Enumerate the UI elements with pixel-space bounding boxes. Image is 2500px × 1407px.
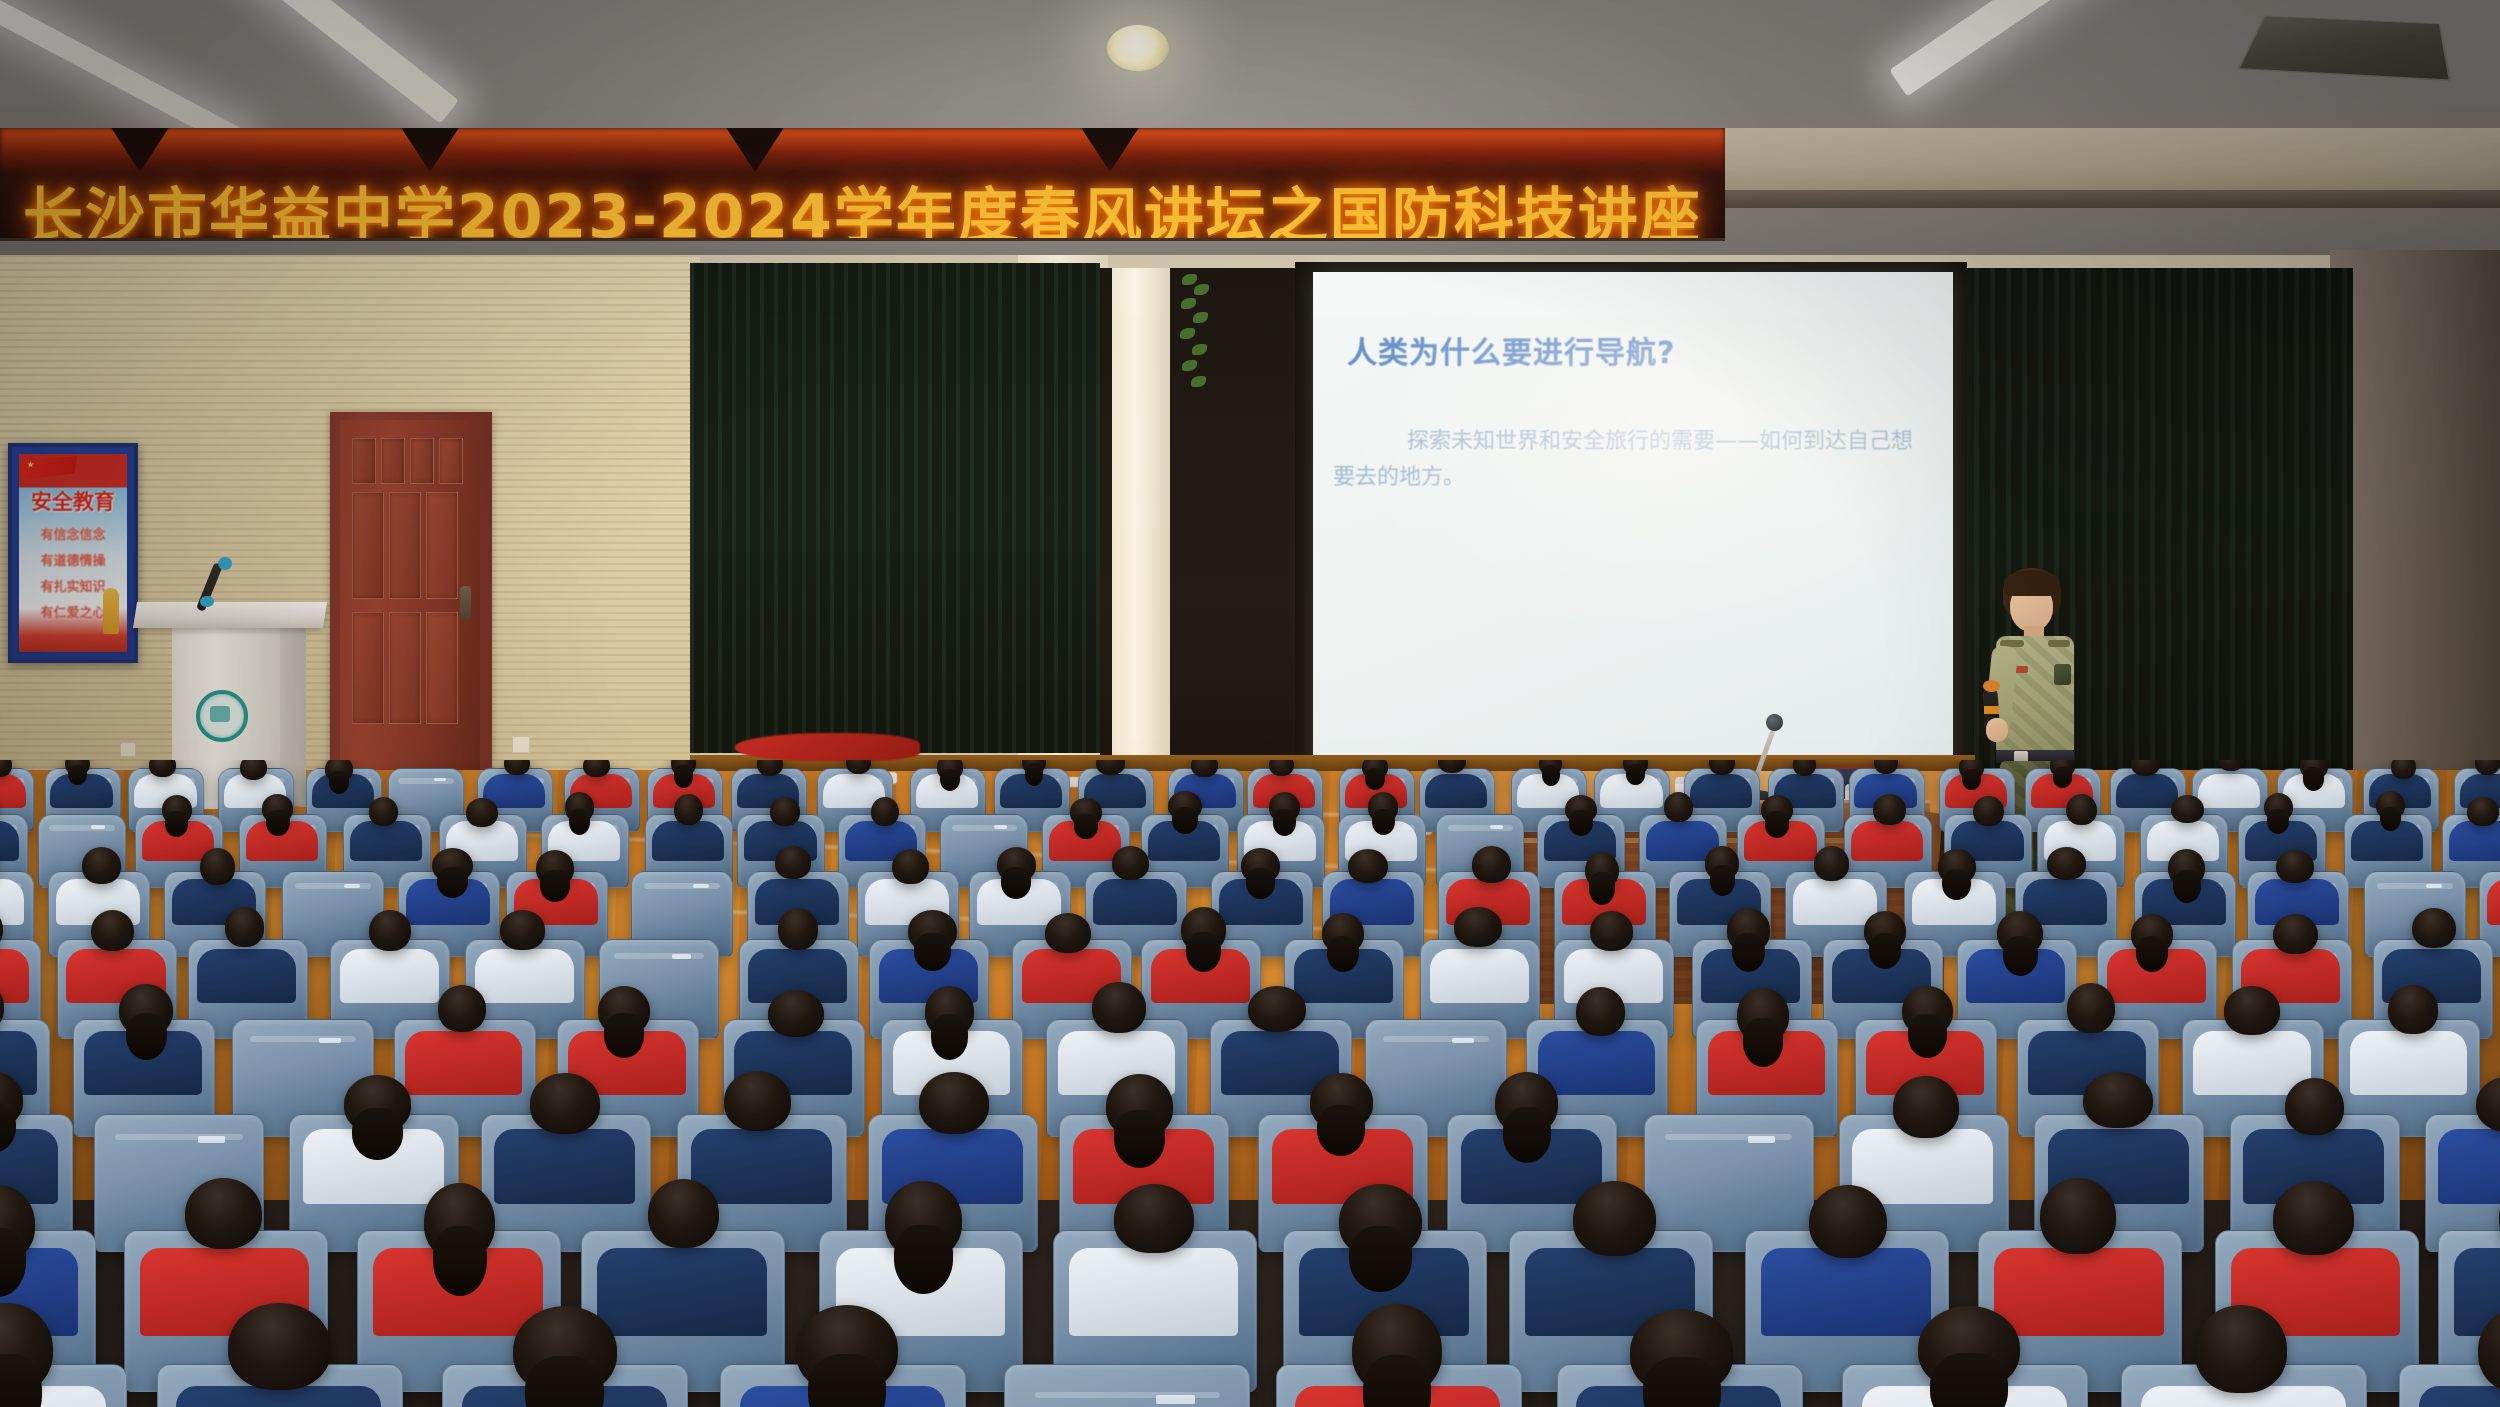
door-panel xyxy=(389,492,421,599)
student-head xyxy=(1938,849,1976,884)
student-head xyxy=(2412,908,2456,948)
door-panel xyxy=(352,612,384,724)
student-uniform xyxy=(1994,1248,2164,1336)
student-head xyxy=(1045,913,1091,953)
ceiling-cone-4 xyxy=(1080,128,1140,172)
student-uniform xyxy=(405,1031,523,1095)
student-head xyxy=(925,986,974,1037)
lectern-top-surface xyxy=(133,602,327,628)
seat-number-tag xyxy=(1452,1038,1474,1044)
student-head xyxy=(536,850,575,886)
student-head xyxy=(768,990,824,1038)
student-head xyxy=(1339,1184,1422,1258)
student-uniform xyxy=(475,949,574,1003)
microphone-base-icon xyxy=(200,596,214,607)
student-head xyxy=(908,910,956,952)
student-head xyxy=(2285,1078,2344,1135)
student-head xyxy=(919,1072,988,1134)
student-head xyxy=(674,794,703,825)
presenter-hand xyxy=(1986,718,2008,742)
event-banner-text: 长沙市华益中学2023-2024学年度春风讲坛之国防科技讲座 xyxy=(0,168,1725,241)
student-head xyxy=(1472,846,1511,882)
stage-pillar xyxy=(1112,268,1170,768)
student-head xyxy=(846,760,871,774)
student-head xyxy=(200,848,235,885)
student-head xyxy=(1959,760,1984,779)
student-head xyxy=(671,760,696,776)
stage-curtain-left xyxy=(690,263,1100,753)
student-head xyxy=(2040,1178,2115,1254)
student-head xyxy=(65,760,90,775)
seat-number-tag xyxy=(344,884,360,888)
student-head xyxy=(1454,907,1501,947)
flag-icon xyxy=(21,456,77,480)
student-head xyxy=(1814,846,1849,881)
door-panel xyxy=(426,612,458,724)
student-head xyxy=(262,794,293,823)
student-head xyxy=(424,1183,495,1260)
student-head xyxy=(466,798,498,827)
student-head xyxy=(2224,986,2280,1035)
ceiling-spotlight-icon xyxy=(1107,25,1169,71)
student-uniform xyxy=(1852,1129,1993,1204)
student-head xyxy=(513,1306,617,1395)
student-head xyxy=(1705,846,1739,880)
student-uniform xyxy=(1069,1248,1239,1336)
led-banner-panel: 长沙市华益中学2023-2024学年度春风讲坛之国防科技讲座 xyxy=(0,128,1725,241)
wall-outlet xyxy=(512,736,530,753)
student-head xyxy=(1181,907,1227,952)
student-head xyxy=(1630,1309,1733,1394)
poster-line-2: 有道德情操 xyxy=(19,550,127,569)
seat-number-tag xyxy=(434,778,446,781)
student-head xyxy=(1585,852,1619,889)
student-head xyxy=(2067,983,2115,1033)
wall-outlet xyxy=(120,742,136,757)
audience-area xyxy=(0,760,2500,1407)
student-head xyxy=(1070,798,1102,826)
student-head xyxy=(1106,1074,1173,1138)
student-head xyxy=(2264,793,2293,821)
student-head xyxy=(1664,792,1693,822)
student-head xyxy=(778,908,818,950)
wall-panel-far-right xyxy=(2330,250,2500,830)
student-uniform xyxy=(652,821,724,861)
student-head xyxy=(1864,911,1907,951)
seat-number-tag xyxy=(994,825,1008,829)
student-head xyxy=(500,910,546,949)
student-head xyxy=(1997,911,2043,956)
ceiling-cone-2 xyxy=(400,128,460,172)
student-uniform xyxy=(494,1129,635,1204)
student-head xyxy=(997,847,1037,883)
student-head xyxy=(2171,795,2204,824)
student-head xyxy=(91,910,134,952)
student-head xyxy=(228,1303,330,1389)
soffit-right xyxy=(1725,128,2500,190)
rank-epaulette-icon xyxy=(2048,640,2070,647)
seat-number-tag xyxy=(319,1038,341,1044)
student-head xyxy=(775,846,811,879)
student-uniform xyxy=(1538,1031,1656,1095)
student-head xyxy=(1902,986,1953,1035)
student-head xyxy=(2300,760,2328,779)
student-head xyxy=(2047,847,2086,879)
student-uniform xyxy=(2198,774,2260,808)
student-head xyxy=(185,1178,262,1249)
student-head xyxy=(1727,908,1770,951)
student-head xyxy=(2050,760,2076,777)
seat-number-tag xyxy=(2426,884,2442,888)
student-head xyxy=(1623,760,1648,775)
student-uniform xyxy=(1425,774,1487,808)
student-head xyxy=(1362,760,1388,779)
student-uniform xyxy=(1093,879,1177,925)
student-head xyxy=(1191,760,1218,777)
student-head xyxy=(2388,985,2437,1034)
student-uniform xyxy=(2116,774,2178,808)
student-head xyxy=(1112,846,1149,880)
student-head xyxy=(1322,913,1363,953)
student-head xyxy=(149,760,176,777)
student-uniform xyxy=(2449,821,2500,861)
student-head xyxy=(369,797,398,826)
student-head xyxy=(225,907,265,947)
ceiling-air-vent-right xyxy=(2237,16,2451,81)
wall-poster: 安全教育 有信念信念 有道德情操 有扎实知识 有仁爱之心 xyxy=(8,443,138,663)
student-head xyxy=(1022,760,1046,774)
student-uniform xyxy=(2350,1031,2468,1095)
screen-glare xyxy=(1313,272,1953,800)
unit-patch-icon xyxy=(2054,664,2071,685)
student-uniform xyxy=(1430,949,1529,1003)
student-head xyxy=(724,1071,791,1131)
door-panel xyxy=(439,438,463,484)
student-uniform xyxy=(1690,774,1752,808)
soffit-underside xyxy=(1725,190,2500,208)
student-head xyxy=(770,797,800,825)
student-head xyxy=(162,795,192,824)
student-uniform xyxy=(1851,821,1923,861)
student-head xyxy=(892,849,929,884)
student-head xyxy=(369,910,411,951)
student-head xyxy=(1737,988,1790,1042)
student-head xyxy=(885,1181,962,1258)
seat-number-tag xyxy=(198,1136,225,1143)
student-head xyxy=(2066,794,2097,826)
student-head xyxy=(2168,849,2205,886)
seat-number-tag xyxy=(693,884,709,888)
student-head xyxy=(438,985,486,1032)
student-head xyxy=(432,848,473,883)
student-head xyxy=(1565,795,1597,823)
auditorium-lecture-photo: 长沙市华益中学2023-2024学年度春风讲坛之国防科技讲座 安全教育 有信念信… xyxy=(0,0,2500,1407)
poster-title: 安全教育 xyxy=(19,486,127,516)
seat-number-tag xyxy=(1748,1136,1775,1143)
student-uniform xyxy=(350,821,422,861)
student-uniform xyxy=(2438,1129,2500,1204)
microphone-head-icon xyxy=(218,557,232,570)
auditorium-seat[interactable] xyxy=(1004,1364,1250,1407)
student-uniform xyxy=(597,1248,767,1336)
student-head xyxy=(583,760,610,777)
student-head xyxy=(1761,795,1793,824)
table-microphone-icon xyxy=(1766,714,1783,731)
student-head xyxy=(1348,849,1388,883)
microphone-top xyxy=(1983,680,2000,692)
student-head xyxy=(240,760,267,780)
student-head xyxy=(1114,1184,1194,1252)
ceiling-cone-1 xyxy=(110,128,170,172)
student-head xyxy=(1269,792,1300,822)
student-uniform xyxy=(197,949,296,1003)
microphone-band xyxy=(1984,706,1999,714)
poster-line-1: 有信念信念 xyxy=(19,524,127,543)
student-head xyxy=(1241,848,1279,883)
student-head xyxy=(937,760,963,780)
student-head xyxy=(1973,796,2004,827)
student-head xyxy=(530,1073,600,1133)
poster-figure-illustration xyxy=(103,588,119,634)
student-head xyxy=(1809,1185,1887,1259)
student-head xyxy=(1918,1306,2020,1390)
student-head xyxy=(1873,794,1906,825)
student-head xyxy=(1368,792,1398,821)
student-uniform xyxy=(1761,1248,1931,1336)
door-panel xyxy=(410,438,434,484)
door-panel xyxy=(426,492,458,599)
red-cloth-on-floor xyxy=(735,733,920,761)
ceiling-cone-3 xyxy=(725,128,785,172)
student-head xyxy=(871,797,899,827)
student-head xyxy=(82,847,121,884)
door-panel xyxy=(352,438,376,484)
student-head xyxy=(1168,791,1202,820)
seat-number-tag xyxy=(1156,1395,1195,1405)
student-uniform xyxy=(2419,1386,2500,1407)
projection-screen: 人类为什么要进行导航? 探索未知世界和安全旅行的需要——如何到达自己想要去的地方… xyxy=(1313,272,1953,800)
student-head xyxy=(2467,797,2499,826)
student-head xyxy=(565,792,594,821)
student-head xyxy=(325,760,352,782)
student-head xyxy=(2131,914,2173,954)
student-head xyxy=(1092,982,1146,1032)
student-head xyxy=(119,984,173,1036)
seat-number-tag xyxy=(1490,825,1504,829)
student-head xyxy=(648,1179,719,1248)
student-head xyxy=(2273,1181,2355,1256)
student-uniform xyxy=(1793,879,1877,925)
student-head xyxy=(1893,1076,1959,1137)
student-head xyxy=(2376,791,2405,819)
door-panel xyxy=(352,492,384,599)
door-panel xyxy=(389,612,421,724)
seat-number-tag xyxy=(91,825,105,829)
seat-number-tag xyxy=(672,954,691,959)
student-uniform xyxy=(0,949,29,1003)
student-head xyxy=(1590,911,1633,951)
poster-artwork: 安全教育 有信念信念 有道德情操 有扎实知识 有仁爱之心 xyxy=(19,454,127,652)
student-head xyxy=(796,1305,898,1393)
student-head xyxy=(1576,987,1625,1036)
student-head xyxy=(1539,760,1563,775)
student-head xyxy=(344,1075,411,1133)
student-head xyxy=(2273,914,2318,954)
student-uniform xyxy=(340,949,439,1003)
student-head xyxy=(1573,1181,1655,1256)
student-head xyxy=(2083,1072,2153,1129)
school-emblem-icon xyxy=(196,690,248,742)
door-panel xyxy=(381,438,405,484)
student-head xyxy=(2276,850,2314,883)
student-head xyxy=(598,986,650,1035)
student-head xyxy=(1248,986,1306,1033)
presenter-fringe xyxy=(2004,570,2060,596)
student-head xyxy=(1495,1072,1558,1134)
student-head xyxy=(2195,1305,2288,1393)
hanging-plant xyxy=(1178,270,1212,400)
student-head xyxy=(1352,1304,1442,1395)
student-head xyxy=(1310,1073,1373,1130)
door-handle-icon[interactable] xyxy=(460,586,471,620)
